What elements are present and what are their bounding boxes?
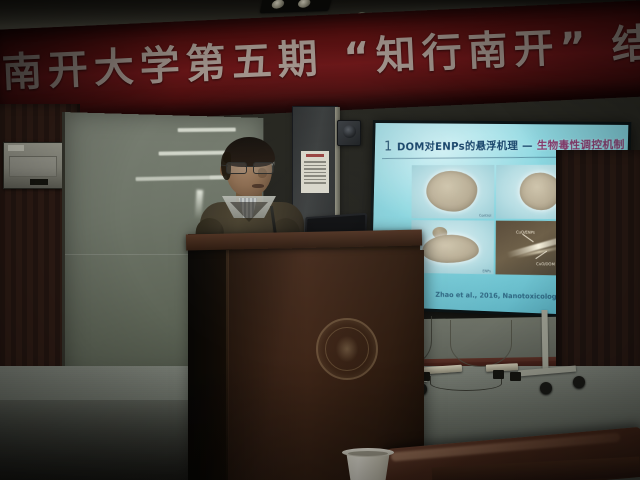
foreground-shadow <box>0 400 200 480</box>
notice-line <box>304 165 326 167</box>
power-cable <box>450 320 512 367</box>
power-plug <box>493 370 504 379</box>
podium-shadow <box>188 248 308 480</box>
stand-caster <box>573 376 585 388</box>
wall-control-panel[interactable] <box>3 142 63 189</box>
control-panel-slot <box>9 156 57 177</box>
university-seal-icon <box>316 318 378 380</box>
power-plug <box>510 372 521 381</box>
whiteboard-reflection <box>178 128 236 132</box>
lamp-bulb-left <box>271 0 285 9</box>
stand-caster <box>540 382 552 394</box>
eyeglass-lens-left <box>226 162 247 174</box>
eyeglass-lens-right <box>253 162 274 174</box>
control-panel-tab <box>8 145 24 151</box>
presenter-mouth <box>252 184 264 188</box>
control-panel-chip <box>30 179 48 185</box>
wood-wall-panel-right <box>556 150 640 400</box>
eyeglass-bridge <box>245 166 255 167</box>
notice-line <box>304 179 326 181</box>
wall-speaker-icon <box>337 120 361 146</box>
power-cable <box>430 376 502 391</box>
speaker-cone <box>343 125 356 138</box>
notice-line <box>304 182 326 184</box>
seal-center-emblem <box>336 336 358 362</box>
notice-line <box>304 175 326 177</box>
screen-stand-leg <box>541 310 548 370</box>
notice-line <box>304 168 326 170</box>
lamp-bulb-right <box>297 0 311 8</box>
photo-scene: 南开大学第五期 “知行南开” 结项评审会 <box>0 0 640 480</box>
paper-cup-interior <box>348 451 388 456</box>
notice-line <box>304 161 326 163</box>
notice-heading <box>306 154 324 157</box>
notice-line <box>304 172 326 174</box>
eyeglasses-icon <box>226 162 274 172</box>
